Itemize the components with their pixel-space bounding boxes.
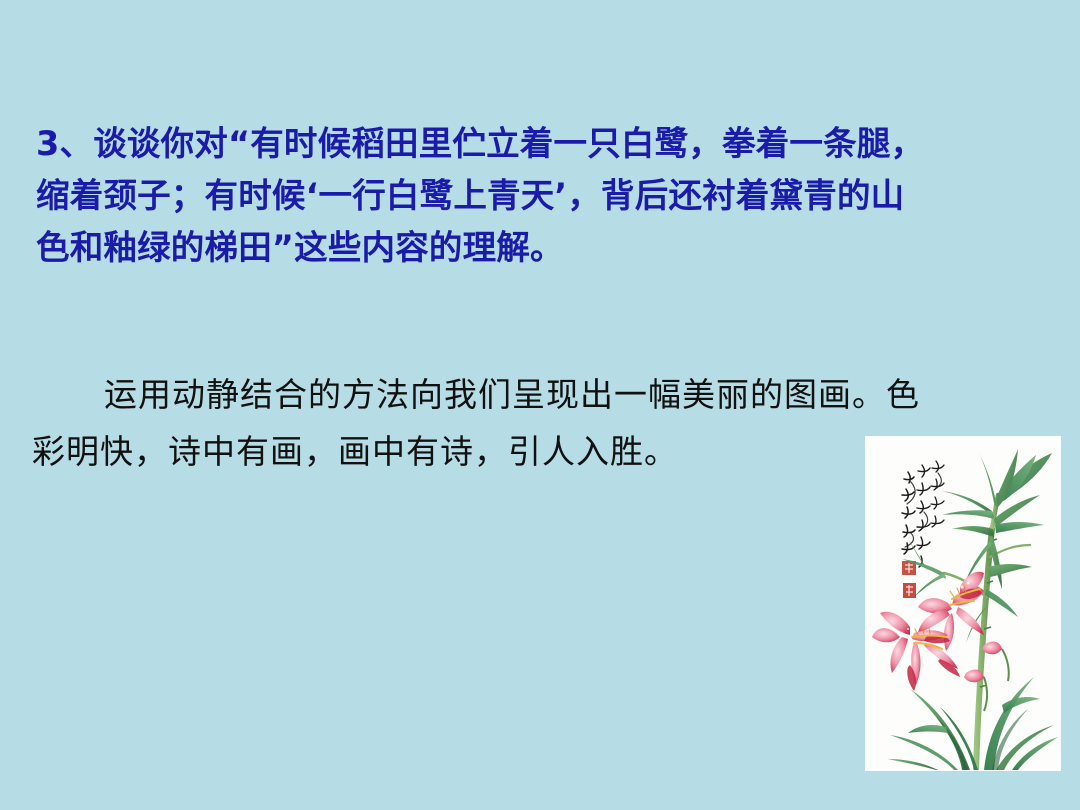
question-line-1: 3、谈谈你对“有时候稻田里伫立着一只白鹭，拳着一条腿， [36,118,1044,170]
slide-canvas: 3、谈谈你对“有时候稻田里伫立着一只白鹭，拳着一条腿， 缩着颈子；有时候‘一行白… [0,0,1080,810]
painting-artwork [866,437,1060,770]
question-line-3: 色和釉绿的梯田”这些内容的理解。 [36,222,1044,274]
question-text-block: 3、谈谈你对“有时候稻田里伫立着一只白鹭，拳着一条腿， 缩着颈子；有时候‘一行白… [36,118,1044,274]
answer-line-1: 运用动静结合的方法向我们呈现出一幅美丽的图画。色 [32,366,1042,423]
chinese-watercolor-painting-image [866,437,1060,770]
question-line-2: 缩着颈子；有时候‘一行白鹭上青天’，背后还衬着黛青的山 [36,170,1044,222]
